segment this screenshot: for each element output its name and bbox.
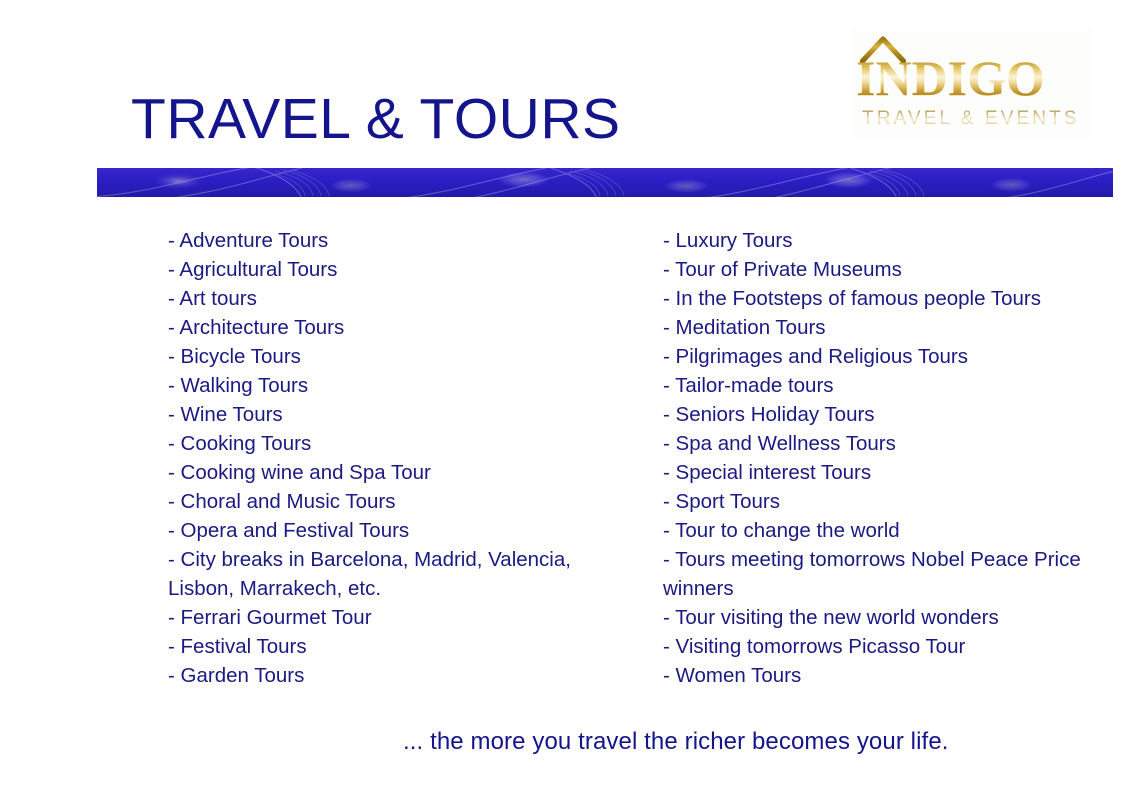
tour-list-item: - Adventure Tours [168,226,638,255]
tour-list-item: - Art tours [168,284,638,313]
tour-list-item: - Garden Tours [168,661,638,690]
logo-subtitle: TRAVEL & EVENTS [862,108,1080,130]
indigo-logo: INDIGO TRAVEL & EVENTS [852,28,1092,138]
tour-list-item: - Opera and Festival Tours [168,516,638,545]
tour-list-item: - Cooking wine and Spa Tour [168,458,638,487]
tour-list-item: - Tour of Private Museums [663,255,1093,284]
tour-list-item: - Choral and Music Tours [168,487,638,516]
page-title: TRAVEL & TOURS [131,89,621,149]
tour-list-item: - Visiting tomorrows Picasso Tour [663,632,1093,661]
slide-canvas: INDIGO TRAVEL & EVENTS TRAVEL & TOURS [0,0,1141,812]
tour-list-item: - Sport Tours [663,487,1093,516]
tour-list-item: - City breaks in Barcelona, Madrid, Vale… [168,545,638,603]
tour-list-item: - Tour to change the world [663,516,1093,545]
tour-list-item: - Ferrari Gourmet Tour [168,603,638,632]
decorative-banner [97,168,1113,197]
tour-list-item: - Luxury Tours [663,226,1093,255]
tour-list-item: - Walking Tours [168,371,638,400]
logo-wordmark: INDIGO [856,52,1088,104]
tour-list-item: - Tours meeting tomorrows Nobel Peace Pr… [663,545,1093,603]
tour-list-item: - Women Tours [663,661,1093,690]
tour-list-item: - Meditation Tours [663,313,1093,342]
tour-list-item: - Cooking Tours [168,429,638,458]
tour-list-item: - In the Footsteps of famous people Tour… [663,284,1093,313]
tour-list-item: - Tour visiting the new world wonders [663,603,1093,632]
tagline: ... the more you travel the richer becom… [403,728,949,756]
tour-list-item: - Spa and Wellness Tours [663,429,1093,458]
tour-list-item: - Pilgrimages and Religious Tours [663,342,1093,371]
tour-list-item: - Special interest Tours [663,458,1093,487]
tour-list-item: - Architecture Tours [168,313,638,342]
tour-list-right: - Luxury Tours - Tour of Private Museums… [663,226,1093,690]
tour-list-item: - Agricultural Tours [168,255,638,284]
tour-list-left: - Adventure Tours - Agricultural Tours -… [168,226,638,690]
tour-list-item: - Seniors Holiday Tours [663,400,1093,429]
tour-list-item: - Festival Tours [168,632,638,661]
tour-list-item: - Bicycle Tours [168,342,638,371]
banner-swirls-icon [97,168,1113,197]
tour-list-item: - Wine Tours [168,400,638,429]
tour-list-item: - Tailor-made tours [663,371,1093,400]
logo-mark-row: INDIGO [852,28,1092,104]
